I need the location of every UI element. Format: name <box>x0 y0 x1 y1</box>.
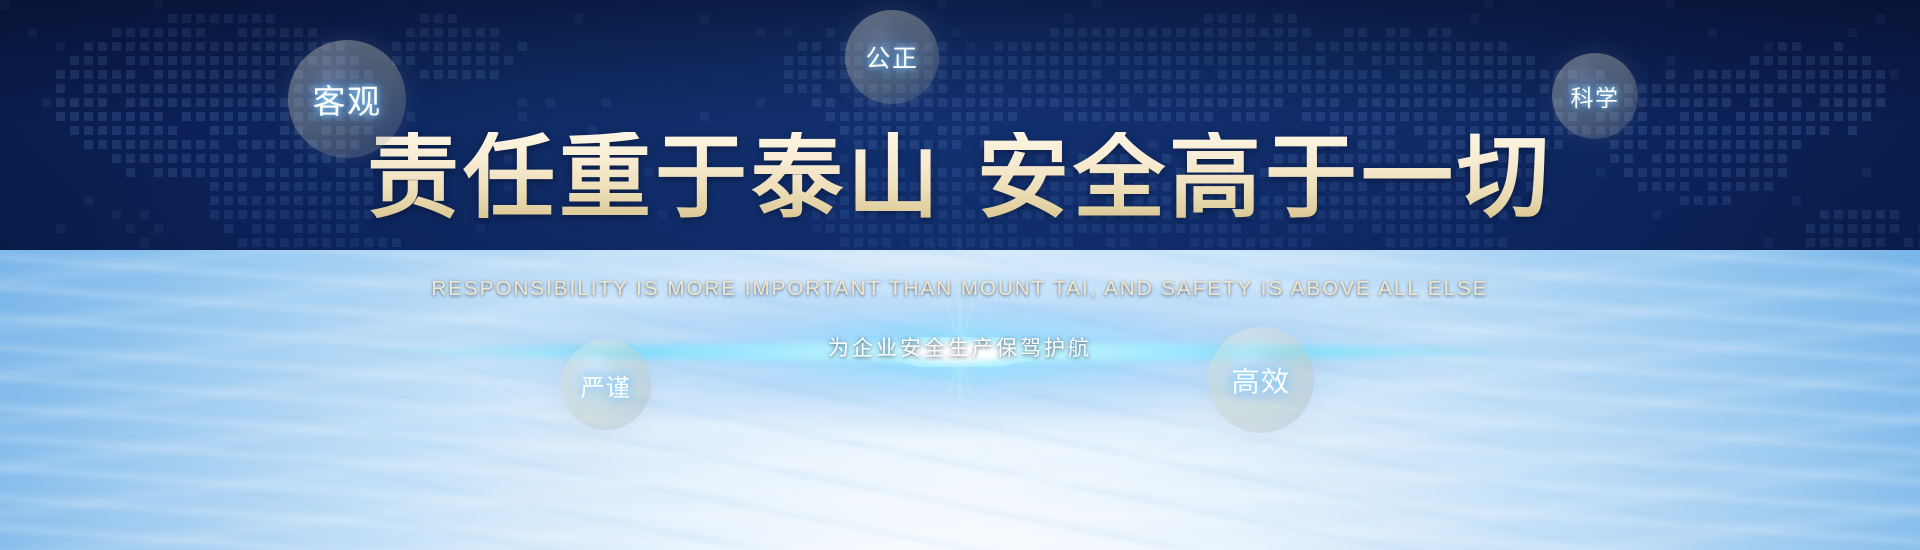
keyword-bubble-keguan-label: 客观 <box>313 75 382 123</box>
keyword-bubble-gaoxiao[interactable]: 高效 <box>1208 327 1314 433</box>
keyword-bubble-yanjin[interactable]: 严谨 <box>561 340 651 430</box>
banner-subtitle-chinese: 为企业安全生产保驾护航 <box>0 332 1920 362</box>
keyword-bubble-gongzheng[interactable]: 公正 <box>845 10 939 104</box>
keyword-bubble-gongzheng-label: 公正 <box>865 39 918 75</box>
keyword-bubble-gaoxiao-label: 高效 <box>1231 360 1290 400</box>
keyword-bubble-kexue[interactable]: 科学 <box>1552 53 1638 139</box>
main-title-part-2: 安全高于一切 <box>977 127 1553 229</box>
keyword-bubble-yanjin-label: 严谨 <box>581 368 632 403</box>
keyword-bubble-keguan[interactable]: 客观 <box>288 40 406 158</box>
banner-content: 责任重于泰山安全高于一切 RESPONSIBILITY IS MORE IMPO… <box>0 0 1920 550</box>
banner-main-title: 责任重于泰山安全高于一切 <box>0 132 1920 224</box>
keyword-bubble-kexue-label: 科学 <box>1571 79 1620 113</box>
main-title-part-1: 责任重于泰山 <box>367 127 943 229</box>
banner-subtitle-english: RESPONSIBILITY IS MORE IMPORTANT THAN MO… <box>0 277 1920 301</box>
safety-banner: 责任重于泰山安全高于一切 RESPONSIBILITY IS MORE IMPO… <box>0 0 1920 550</box>
